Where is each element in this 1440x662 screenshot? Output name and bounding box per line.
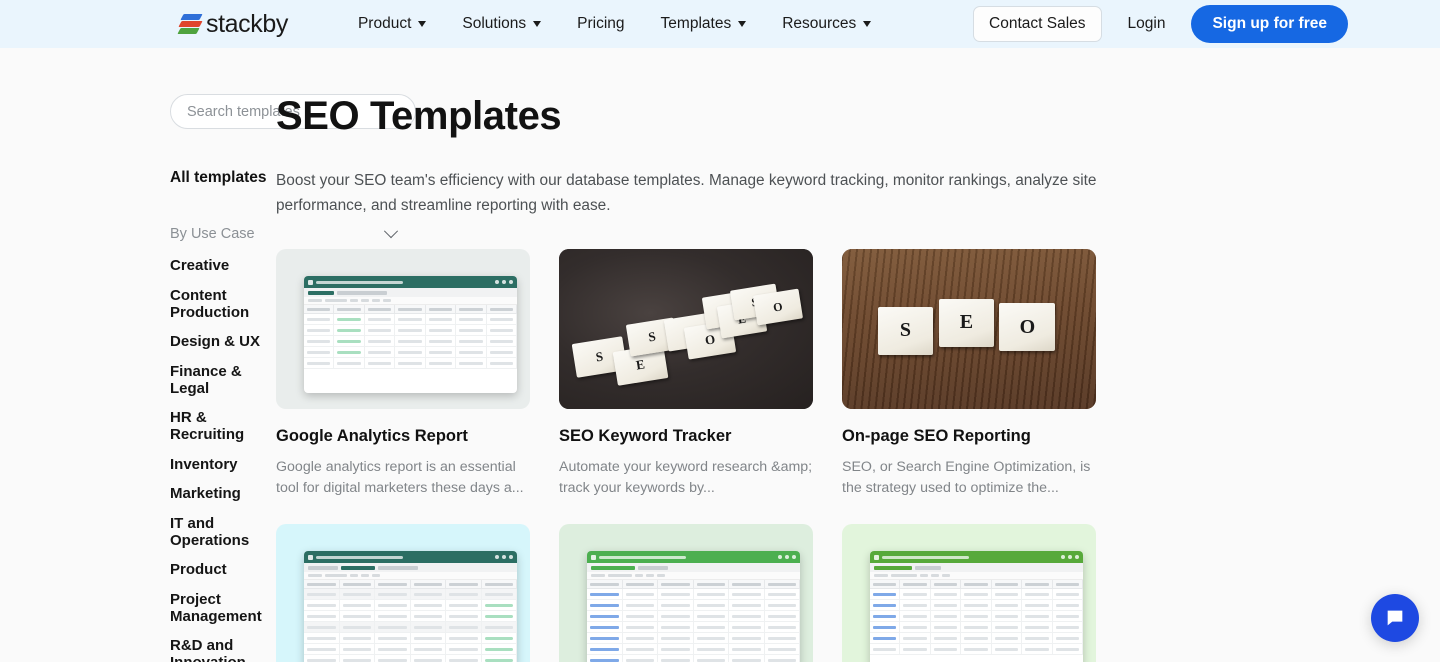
template-card-title: SEO Keyword Tracker xyxy=(559,427,813,447)
sidebar-item-rd-innovation[interactable]: R&D and Innovation xyxy=(170,632,276,662)
seo-wood-photo: S E O xyxy=(842,249,1096,409)
nav-item-pricing-label: Pricing xyxy=(577,15,624,33)
app-screenshot xyxy=(587,551,800,662)
template-card[interactable] xyxy=(842,524,1096,662)
seo-scrabble-photo: S E S E O S E S O xyxy=(559,249,813,409)
sidebar-item-inventory[interactable]: Inventory xyxy=(170,450,276,480)
template-card-title: Google Analytics Report xyxy=(276,427,530,447)
template-card-title: On-page SEO Reporting xyxy=(842,427,1096,447)
chevron-down-icon xyxy=(738,21,746,27)
top-navbar: stackby Product Solutions Pricing Templa… xyxy=(0,0,1440,48)
stackby-logo-icon xyxy=(178,11,203,37)
sidebar-group-by-use-case-label: By Use Case xyxy=(170,226,255,242)
page-body: All templates By Use Case Creative Conte… xyxy=(0,48,1440,662)
nav-item-resources-label: Resources xyxy=(782,15,856,33)
contact-sales-button[interactable]: Contact Sales xyxy=(973,6,1102,42)
brand-name: stackby xyxy=(206,10,288,39)
sidebar-item-marketing[interactable]: Marketing xyxy=(170,480,276,510)
nav-item-templates-label: Templates xyxy=(661,15,732,33)
app-screenshot xyxy=(870,551,1083,662)
template-card[interactable] xyxy=(559,524,813,662)
app-screenshot xyxy=(304,551,517,662)
chevron-down-icon xyxy=(533,21,541,27)
chat-widget-button[interactable] xyxy=(1371,594,1419,642)
template-thumbnail xyxy=(559,524,813,662)
chevron-down-icon xyxy=(418,21,426,27)
template-card-description: Google analytics report is an essential … xyxy=(276,457,530,500)
nav-item-solutions-label: Solutions xyxy=(462,15,526,33)
templates-sidebar: All templates By Use Case Creative Conte… xyxy=(0,94,276,662)
template-thumbnail: S E S E O S E S O xyxy=(559,249,813,409)
signup-button[interactable]: Sign up for free xyxy=(1191,5,1348,43)
sidebar-item-design-ux[interactable]: Design & UX xyxy=(170,328,276,358)
sidebar-item-creative[interactable]: Creative xyxy=(170,252,276,282)
nav-item-product-label: Product xyxy=(358,15,411,33)
chat-bubble-icon xyxy=(1384,607,1406,629)
template-thumbnail xyxy=(276,249,530,409)
app-screenshot xyxy=(304,276,517,393)
template-card-description: SEO, or Search Engine Optimization, is t… xyxy=(842,457,1096,500)
template-card[interactable]: S E O On-page SEO Reporting SEO, or Sear… xyxy=(842,249,1096,500)
nav-item-templates[interactable]: Templates xyxy=(661,15,747,33)
sidebar-item-project-management[interactable]: Project Management xyxy=(170,585,276,631)
template-card-description: Automate your keyword research &amp; tra… xyxy=(559,457,813,500)
sidebar-item-content-production[interactable]: Content Production xyxy=(170,282,276,328)
sidebar-category-list: Creative Content Production Design & UX … xyxy=(170,252,276,662)
nav-item-pricing[interactable]: Pricing xyxy=(577,15,624,33)
template-thumbnail: S E O xyxy=(842,249,1096,409)
stackby-logo[interactable]: stackby xyxy=(178,10,288,39)
nav-item-product[interactable]: Product xyxy=(358,15,426,33)
main-content: SEO Templates Boost your SEO team's effi… xyxy=(276,94,1440,662)
template-card[interactable]: S E S E O S E S O SEO Keyword Tracker Au… xyxy=(559,249,813,500)
sidebar-item-finance-legal[interactable]: Finance & Legal xyxy=(170,358,276,404)
page-description: Boost your SEO team's efficiency with ou… xyxy=(276,169,1106,219)
template-card[interactable] xyxy=(276,524,530,662)
nav-item-solutions[interactable]: Solutions xyxy=(462,15,541,33)
template-card-grid: Google Analytics Report Google analytics… xyxy=(276,249,1280,662)
nav-item-resources[interactable]: Resources xyxy=(782,15,871,33)
chevron-down-icon xyxy=(863,21,871,27)
login-link[interactable]: Login xyxy=(1128,15,1166,33)
template-card[interactable]: Google Analytics Report Google analytics… xyxy=(276,249,530,500)
page-title: SEO Templates xyxy=(276,94,1280,139)
nav-links: Product Solutions Pricing Templates Reso… xyxy=(358,15,871,33)
sidebar-item-hr-recruiting[interactable]: HR & Recruiting xyxy=(170,404,276,450)
sidebar-item-product[interactable]: Product xyxy=(170,556,276,586)
sidebar-item-all-templates[interactable]: All templates xyxy=(170,169,276,187)
nav-actions: Contact Sales Login Sign up for free xyxy=(973,5,1348,43)
template-thumbnail xyxy=(842,524,1096,662)
template-thumbnail xyxy=(276,524,530,662)
sidebar-item-it-operations[interactable]: IT and Operations xyxy=(170,509,276,555)
